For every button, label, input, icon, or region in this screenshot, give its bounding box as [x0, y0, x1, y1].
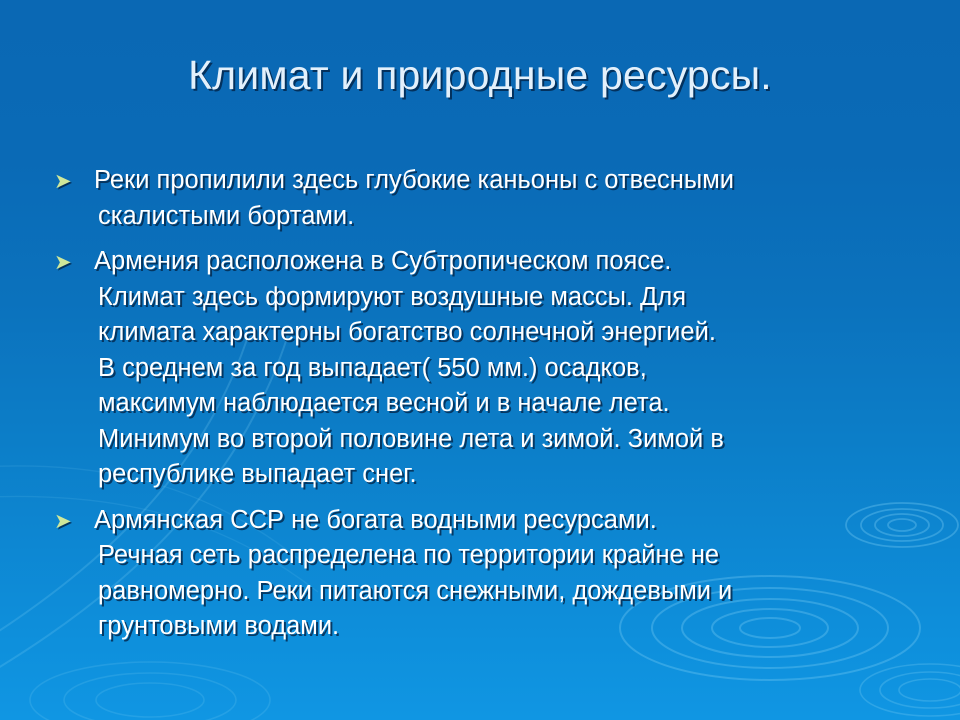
slide-title: Климат и природные ресурсы.: [0, 52, 960, 99]
bullet-text: Армения расположена в Субтропическом поя…: [94, 244, 930, 493]
arrowhead-right-bullet-icon: ➤: [54, 172, 80, 192]
bullet-line: грунтовыми водами.: [94, 609, 930, 645]
bullet-line: климата характерны богатство солнечной э…: [94, 315, 930, 351]
bullet-item: ➤ Реки пропилили здесь глубокие каньоны …: [50, 163, 930, 234]
bullet-item: ➤ Армения расположена в Субтропическом п…: [50, 244, 930, 493]
bullet-line: Речная сеть распределена по территории к…: [94, 538, 930, 574]
slide-body: ➤ Реки пропилили здесь глубокие каньоны …: [50, 163, 930, 645]
bullet-line: Армянская ССР не богата водными ресурсам…: [94, 503, 930, 539]
bullet-line: скалистыми бортами.: [94, 199, 930, 235]
bullet-text: Реки пропилили здесь глубокие каньоны с …: [94, 163, 930, 234]
bullet-line: максимум наблюдается весной и в начале л…: [94, 386, 930, 422]
bullet-line: равномерно. Реки питаются снежными, дожд…: [94, 574, 930, 610]
bullet-line: Климат здесь формируют воздушные массы. …: [94, 280, 930, 316]
bullet-text: Армянская ССР не богата водными ресурсам…: [94, 503, 930, 645]
presentation-slide: Климат и природные ресурсы. ➤ Реки пропи…: [0, 0, 960, 720]
bullet-line: Армения расположена в Субтропическом поя…: [94, 244, 930, 280]
bullet-item: ➤ Армянская ССР не богата водными ресурс…: [50, 503, 930, 645]
arrowhead-right-bullet-icon: ➤: [54, 253, 80, 273]
bullet-line: Реки пропилили здесь глубокие каньоны с …: [94, 163, 930, 199]
arrowhead-right-bullet-icon: ➤: [54, 512, 80, 532]
bullet-line: В среднем за год выпадает( 550 мм.) осад…: [94, 351, 930, 387]
bullet-line: Минимум во второй половине лета и зимой.…: [94, 422, 930, 458]
bullet-line: республике выпадает снег.: [94, 457, 930, 493]
